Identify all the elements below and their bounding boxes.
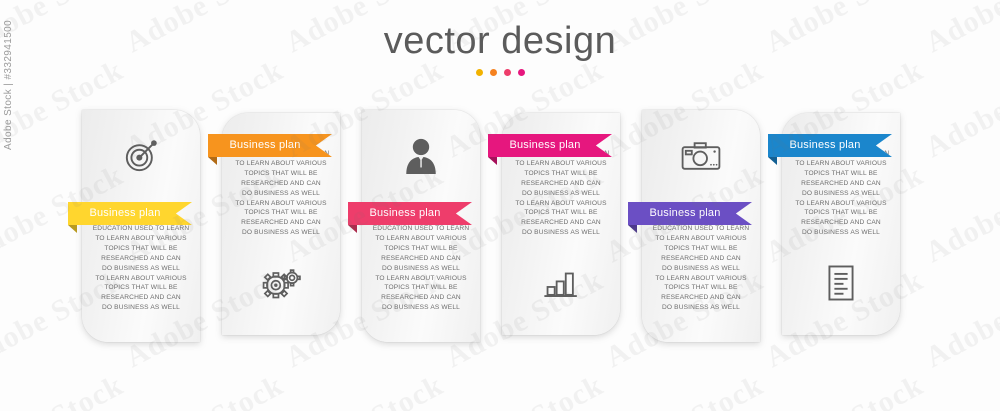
description-line: TOPICS THAT WILL BE [229,169,333,179]
card-description-6: EDUCATION USED TO LEARNTO LEARN ABOUT VA… [789,149,893,238]
card-4[interactable]: EDUCATION USED TO LEARNTO LEARN ABOUT VA… [502,113,620,335]
description-line: TO LEARN ABOUT VARIOUS [789,159,893,169]
card-description-5: EDUCATION USED TO LEARNTO LEARN ABOUT VA… [649,224,753,313]
card-content-1: EDUCATION USED TO LEARNTO LEARN ABOUT VA… [82,110,200,342]
description-line: RESEARCHED AND CAN [369,293,473,303]
ribbon-fold-3 [348,225,357,233]
description-line: TO LEARN ABOUT VARIOUS [649,274,753,284]
ribbon-label-1: Business plan [89,202,170,225]
description-line: EDUCATION USED TO LEARN [89,224,193,234]
description-line: TOPICS THAT WILL BE [89,244,193,254]
card-description-4: EDUCATION USED TO LEARNTO LEARN ABOUT VA… [509,149,613,238]
page-title: vector design [0,18,1000,64]
ribbon-banner-6: Business plan [768,134,892,157]
description-line: RESEARCHED AND CAN [89,254,193,264]
ribbon-fold-5 [628,225,637,233]
card-content-5: EDUCATION USED TO LEARNTO LEARN ABOUT VA… [642,110,760,342]
ribbon-5[interactable]: Business plan [628,202,752,225]
card-2[interactable]: EDUCATION USED TO LEARNTO LEARN ABOUT VA… [222,113,340,335]
card-panel-3: EDUCATION USED TO LEARNTO LEARN ABOUT VA… [362,110,480,342]
gears-icon [222,250,340,316]
ribbon-fold-4 [488,157,497,165]
ribbon-fold-2 [208,157,217,165]
description-line: RESEARCHED AND CAN [649,293,753,303]
description-line: TO LEARN ABOUT VARIOUS [369,234,473,244]
description-line: DO BUSINESS AS WELL [229,189,333,199]
description-line: TO LEARN ABOUT VARIOUS [229,159,333,169]
card-content-3: EDUCATION USED TO LEARNTO LEARN ABOUT VA… [362,110,480,342]
description-line: RESEARCHED AND CAN [509,179,613,189]
description-line: DO BUSINESS AS WELL [369,303,473,313]
card-panel-5: EDUCATION USED TO LEARNTO LEARN ABOUT VA… [642,110,760,342]
ribbon-banner-5: Business plan [628,202,752,225]
description-line: DO BUSINESS AS WELL [369,264,473,274]
ribbon-label-5: Business plan [649,202,730,225]
description-line: DO BUSINESS AS WELL [229,228,333,238]
ribbon-label-2: Business plan [229,134,310,157]
description-line: RESEARCHED AND CAN [789,218,893,228]
description-line: EDUCATION USED TO LEARN [369,224,473,234]
description-line: RESEARCHED AND CAN [229,218,333,228]
card-5[interactable]: EDUCATION USED TO LEARNTO LEARN ABOUT VA… [642,110,760,342]
description-line: TOPICS THAT WILL BE [369,244,473,254]
description-line: TOPICS THAT WILL BE [789,208,893,218]
ribbon-label-6: Business plan [789,134,870,157]
description-line: RESEARCHED AND CAN [509,218,613,228]
description-line: TO LEARN ABOUT VARIOUS [89,234,193,244]
description-line: TO LEARN ABOUT VARIOUS [89,274,193,284]
card-3[interactable]: EDUCATION USED TO LEARNTO LEARN ABOUT VA… [362,110,480,342]
ribbon-banner-4: Business plan [488,134,612,157]
description-line: TOPICS THAT WILL BE [649,283,753,293]
header-dot-row [0,69,1000,76]
description-line: DO BUSINESS AS WELL [649,264,753,274]
description-line: TOPICS THAT WILL BE [369,283,473,293]
description-line: TO LEARN ABOUT VARIOUS [789,199,893,209]
ribbon-fold-1 [68,225,77,233]
card-panel-1: EDUCATION USED TO LEARNTO LEARN ABOUT VA… [82,110,200,342]
description-line: TOPICS THAT WILL BE [509,208,613,218]
bar-chart-icon [502,250,620,316]
description-line: RESEARCHED AND CAN [89,293,193,303]
header-dot-2 [490,69,497,76]
description-line: TO LEARN ABOUT VARIOUS [649,234,753,244]
description-line: TOPICS THAT WILL BE [229,208,333,218]
ribbon-fold-6 [768,157,777,165]
description-line: TOPICS THAT WILL BE [509,169,613,179]
ribbon-banner-3: Business plan [348,202,472,225]
description-line: RESEARCHED AND CAN [789,179,893,189]
card-1[interactable]: EDUCATION USED TO LEARNTO LEARN ABOUT VA… [82,110,200,342]
ribbon-4[interactable]: Business plan [488,134,612,157]
header-dot-4 [518,69,525,76]
header: vector design [0,18,1000,76]
card-6[interactable]: EDUCATION USED TO LEARNTO LEARN ABOUT VA… [782,113,900,335]
description-line: DO BUSINESS AS WELL [649,303,753,313]
header-dot-3 [504,69,511,76]
ribbon-banner-2: Business plan [208,134,332,157]
description-line: RESEARCHED AND CAN [649,254,753,264]
ribbon-label-4: Business plan [509,134,590,157]
card-description-3: EDUCATION USED TO LEARNTO LEARN ABOUT VA… [369,224,473,313]
card-description-1: EDUCATION USED TO LEARNTO LEARN ABOUT VA… [89,224,193,313]
description-line: TOPICS THAT WILL BE [649,244,753,254]
ribbon-1[interactable]: Business plan [68,202,192,225]
description-line: DO BUSINESS AS WELL [789,189,893,199]
header-dot-1 [476,69,483,76]
card-description-2: EDUCATION USED TO LEARNTO LEARN ABOUT VA… [229,149,333,238]
description-line: DO BUSINESS AS WELL [789,228,893,238]
description-line: DO BUSINESS AS WELL [89,303,193,313]
target-icon [82,116,200,196]
ribbon-2[interactable]: Business plan [208,134,332,157]
ribbon-3[interactable]: Business plan [348,202,472,225]
ribbon-label-3: Business plan [369,202,450,225]
description-line: RESEARCHED AND CAN [369,254,473,264]
description-line: TOPICS THAT WILL BE [789,169,893,179]
ribbon-banner-1: Business plan [68,202,192,225]
description-line: DO BUSINESS AS WELL [89,264,193,274]
description-line: TOPICS THAT WILL BE [89,283,193,293]
description-line: TO LEARN ABOUT VARIOUS [369,274,473,284]
description-line: EDUCATION USED TO LEARN [649,224,753,234]
document-icon [782,250,900,316]
ribbon-6[interactable]: Business plan [768,134,892,157]
description-line: DO BUSINESS AS WELL [509,189,613,199]
person-icon [362,116,480,196]
description-line: TO LEARN ABOUT VARIOUS [509,159,613,169]
description-line: TO LEARN ABOUT VARIOUS [229,199,333,209]
description-line: RESEARCHED AND CAN [229,179,333,189]
description-line: TO LEARN ABOUT VARIOUS [509,199,613,209]
camera-icon [642,116,760,196]
description-line: DO BUSINESS AS WELL [509,228,613,238]
